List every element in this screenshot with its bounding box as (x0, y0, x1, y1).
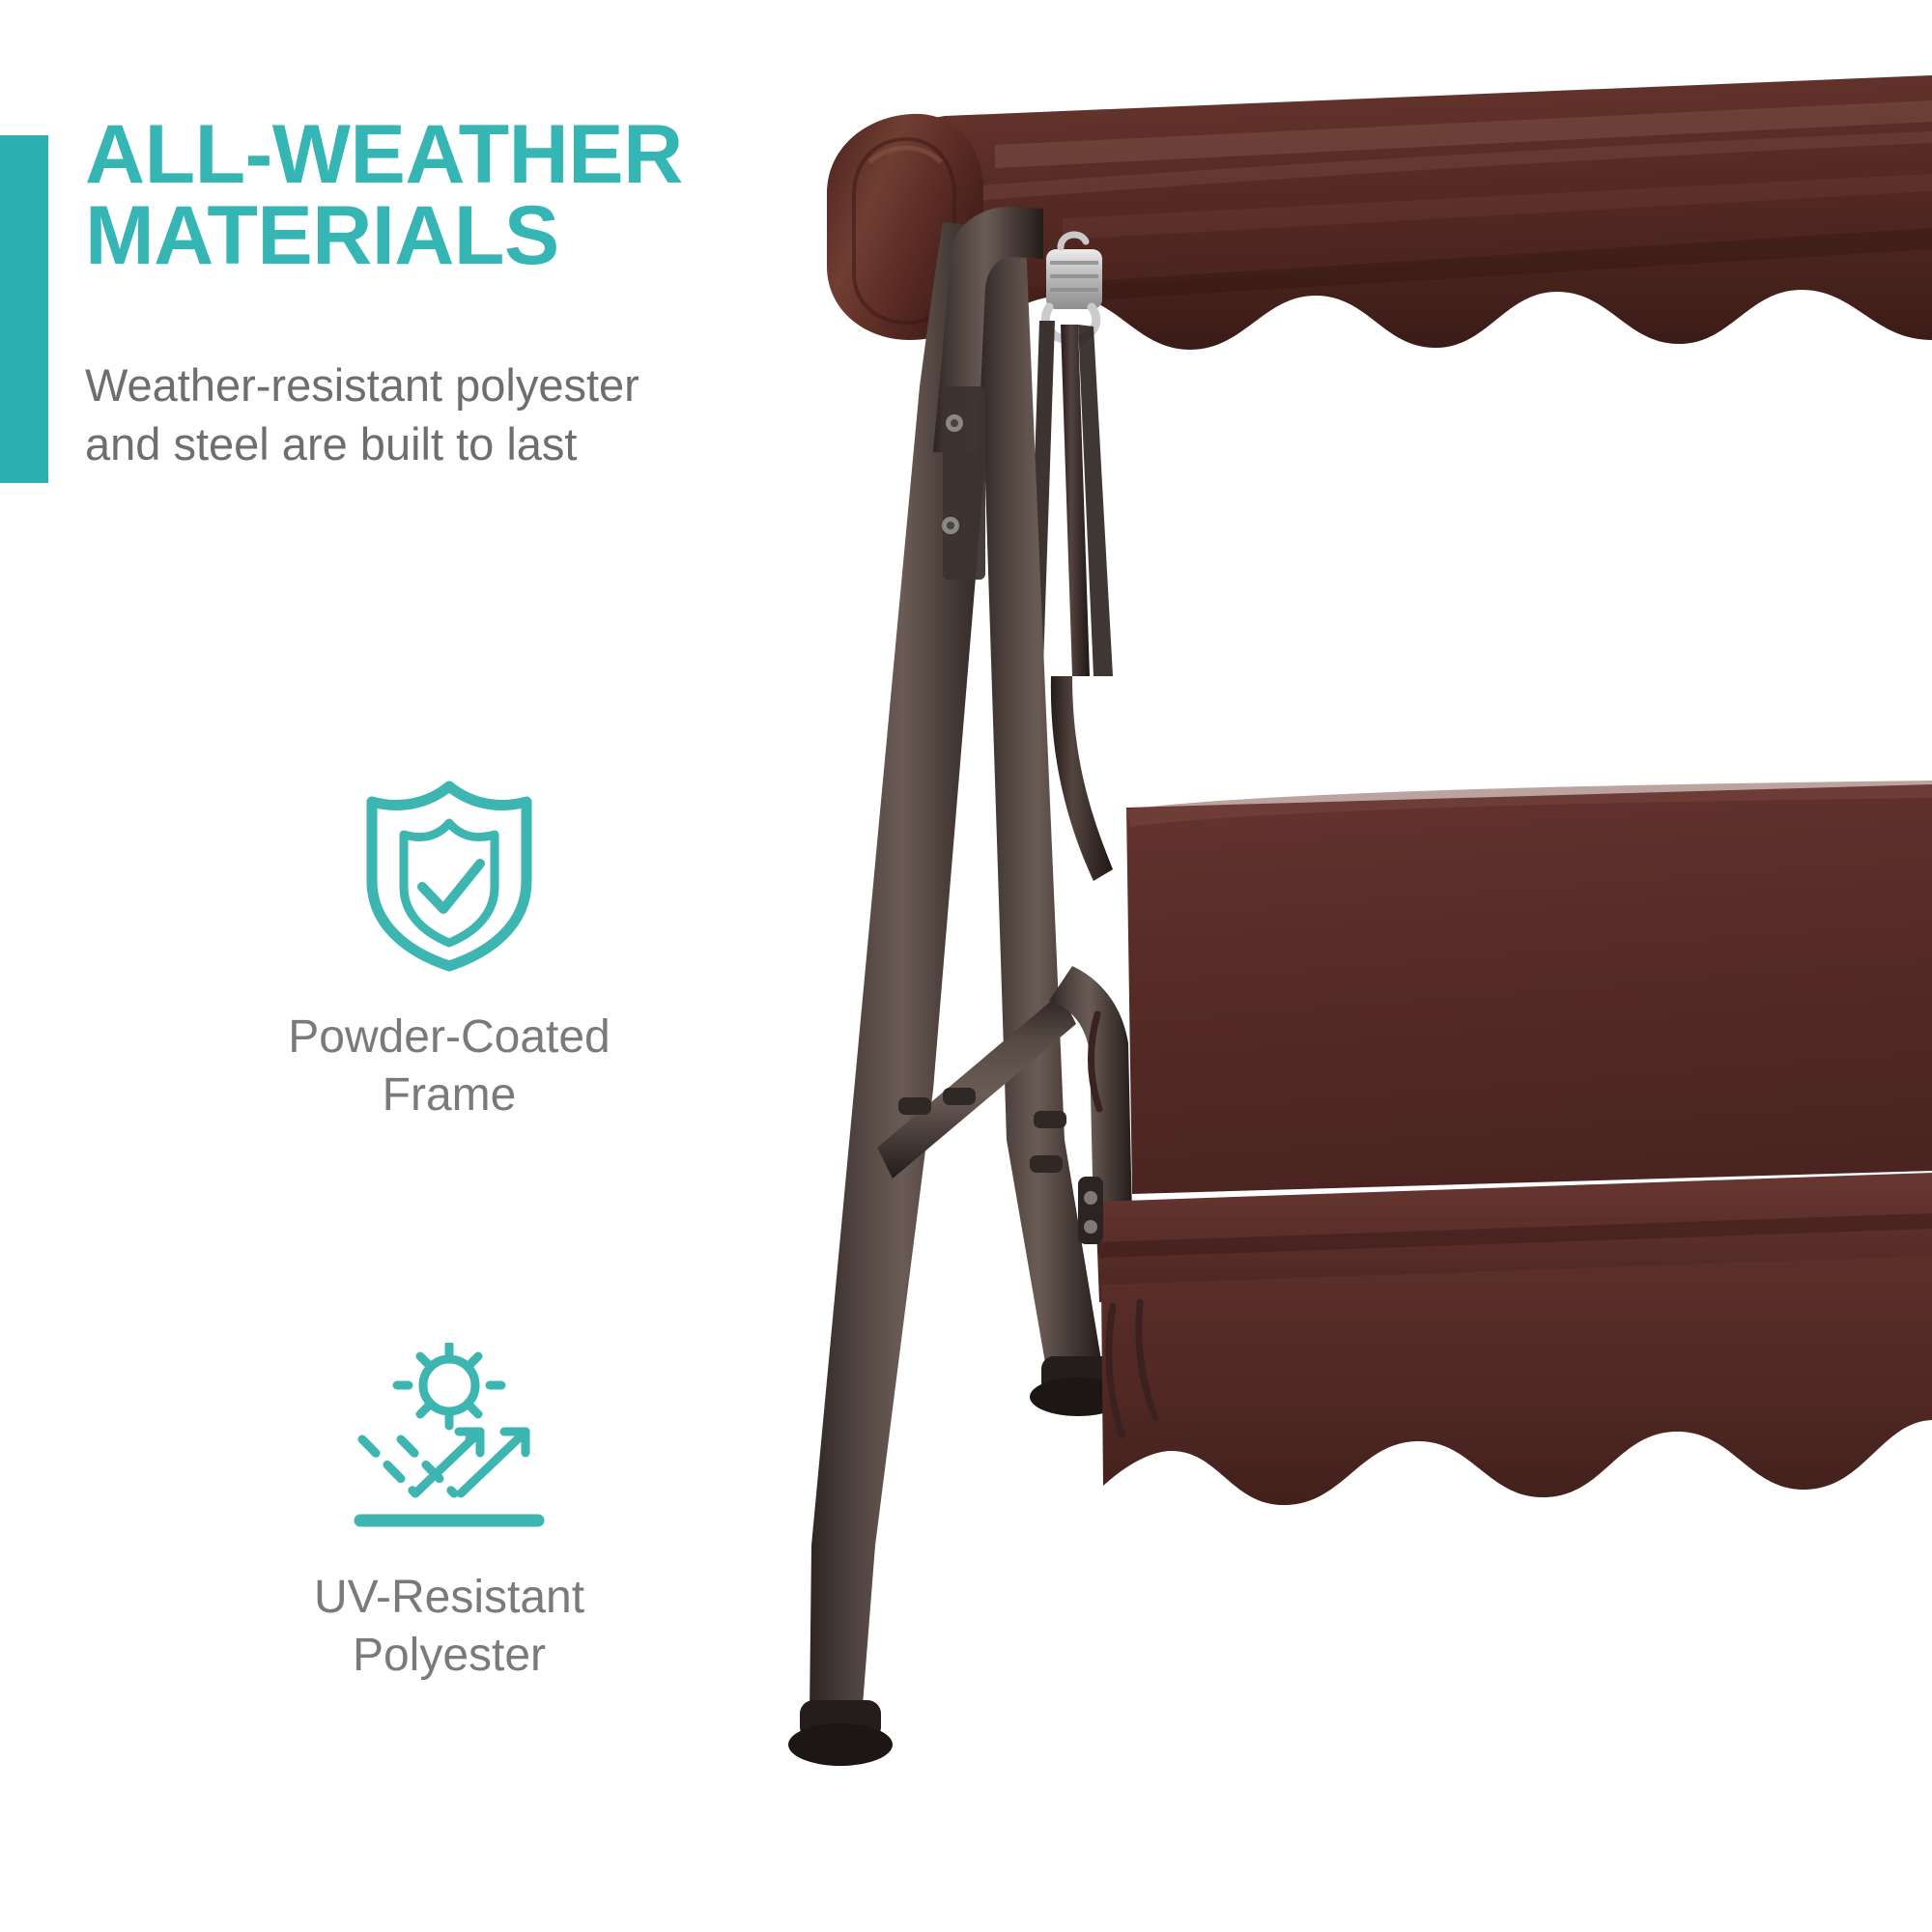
feature-powder-coated-frame: Powder-Coated Frame (140, 773, 758, 1123)
shield-check-icon (140, 773, 758, 976)
seat-skirt (1101, 1256, 1932, 1505)
back-cushion (1126, 784, 1932, 1194)
page-title: ALL-WEATHER MATERIALS (85, 114, 761, 277)
frame-bracket-plate (942, 386, 985, 580)
marketing-banner: ALL-WEATHER MATERIALS Weather-resistant … (0, 0, 1932, 1932)
uv-resistant-sun-icon (140, 1343, 758, 1536)
frame-foot-cap-front (788, 1700, 893, 1766)
seat-bracket (1078, 1177, 1103, 1244)
product-photo-canopy-swing (753, 0, 1932, 1932)
feature-label: UV-Resistant Polyester (140, 1569, 758, 1684)
page-subtitle: Weather-resistant polyester and steel ar… (85, 355, 800, 473)
accent-bar (0, 135, 48, 483)
feature-uv-resistant-polyester: UV-Resistant Polyester (140, 1343, 758, 1684)
feature-label: Powder-Coated Frame (140, 1009, 758, 1123)
